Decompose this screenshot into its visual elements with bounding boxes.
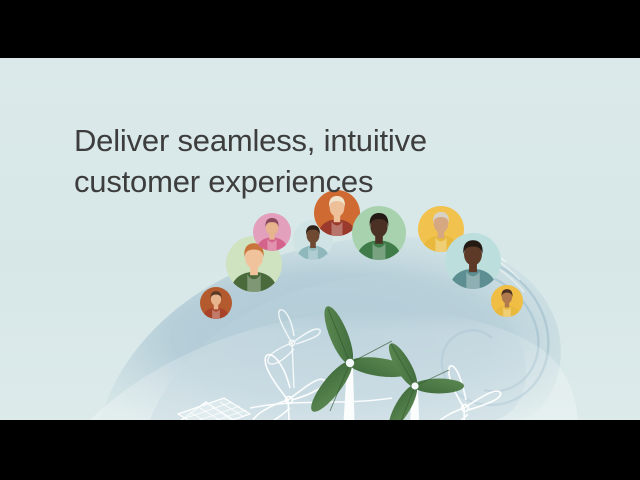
avatar-person-6 bbox=[352, 206, 406, 260]
avatar-person-small-amber bbox=[491, 285, 523, 317]
avatar-cluster bbox=[0, 58, 640, 420]
avatar-person-3 bbox=[253, 213, 291, 251]
page-title: Deliver seamless, intuitive customer exp… bbox=[74, 120, 504, 202]
avatar-person-1 bbox=[200, 287, 232, 319]
presentation-slide: Deliver seamless, intuitive customer exp… bbox=[0, 58, 640, 420]
avatar-person-teal bbox=[445, 233, 501, 289]
video-frame: Deliver seamless, intuitive customer exp… bbox=[0, 0, 640, 480]
letterbox-bottom-bar bbox=[0, 420, 640, 480]
letterbox-top-bar bbox=[0, 0, 640, 58]
